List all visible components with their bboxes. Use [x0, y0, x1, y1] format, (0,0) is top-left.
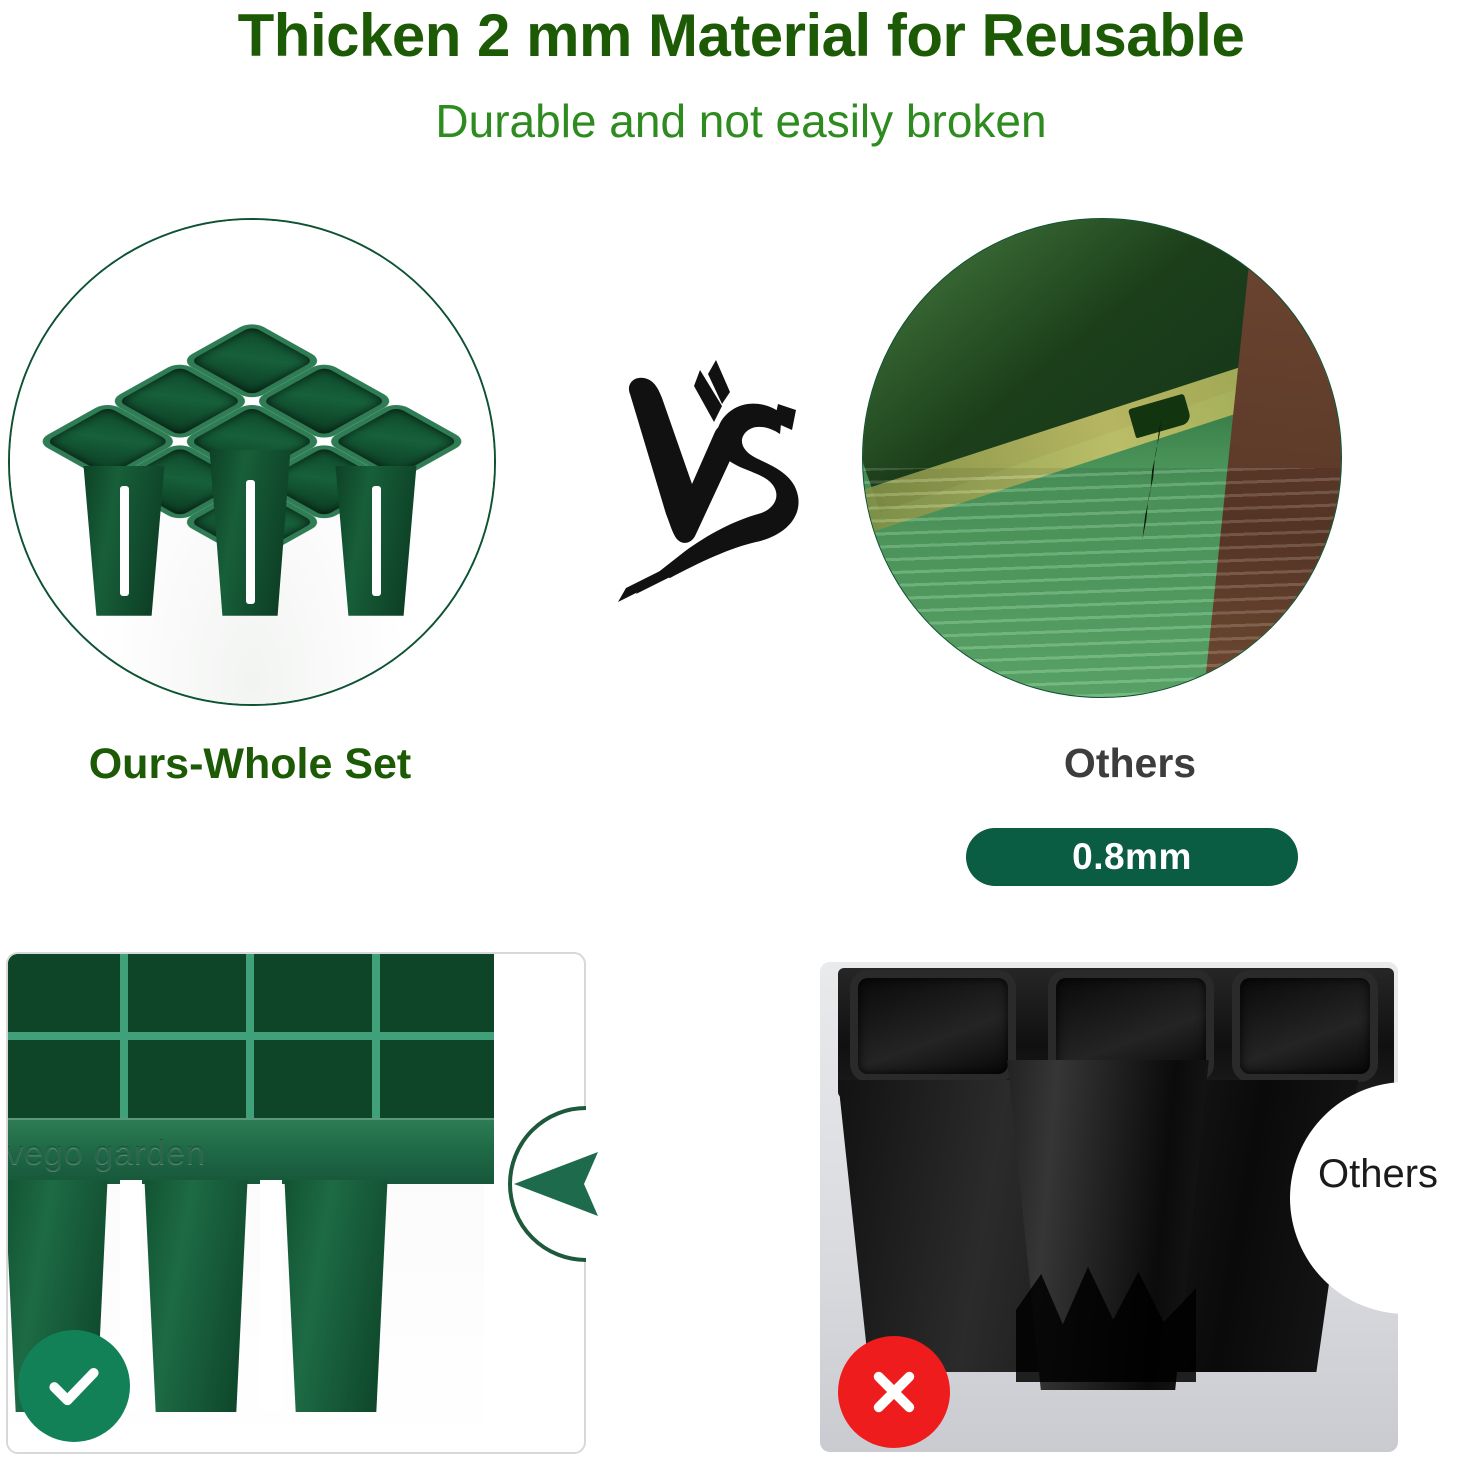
others-closeup-label: Others — [1318, 1152, 1482, 1197]
thickness-badge: 0.8mm — [966, 828, 1298, 886]
tray-pot-skirt — [72, 386, 432, 616]
brand-emboss-text: vego garden — [6, 1132, 306, 1174]
arrow-left-icon — [502, 1104, 662, 1264]
ours-product-photo-circle — [8, 218, 496, 706]
infographic-page: Thicken 2 mm Material for Reusable Durab… — [0, 0, 1482, 1457]
others-product-photo-circle — [862, 218, 1342, 698]
versus-icon — [596, 348, 836, 610]
x-icon — [838, 1336, 950, 1448]
check-icon — [18, 1330, 130, 1442]
page-subtitle: Durable and not easily broken — [0, 94, 1482, 148]
others-label: Others — [940, 740, 1320, 787]
others-cracked-pot-image — [863, 219, 1341, 697]
page-title: Thicken 2 mm Material for Reusable — [0, 4, 1482, 67]
ours-tray-image — [10, 220, 494, 704]
ours-label: Ours-Whole Set — [8, 740, 492, 789]
